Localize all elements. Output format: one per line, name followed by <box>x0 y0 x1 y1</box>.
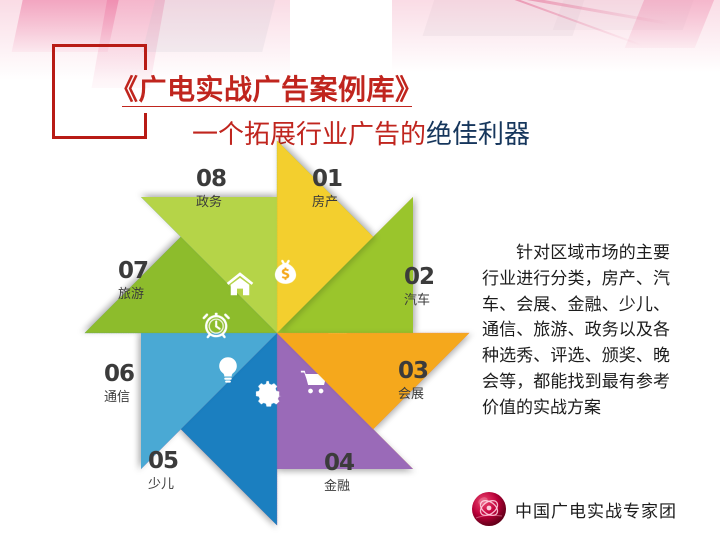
pinwheel-callout-02[interactable]: 02汽车 <box>404 266 434 308</box>
callout-label: 少儿 <box>148 476 178 492</box>
subtitle-part-red: 一个拓展行业广告的 <box>192 120 426 149</box>
callout-number: 03 <box>398 360 428 383</box>
callout-label: 会展 <box>398 386 428 402</box>
title-divider <box>122 106 412 107</box>
callout-label: 金融 <box>324 478 354 494</box>
subtitle-part-blue: 绝佳利器 <box>426 120 530 149</box>
callout-number: 04 <box>324 452 354 475</box>
callout-number: 05 <box>148 450 178 473</box>
pinwheel-callout-03[interactable]: 03会展 <box>398 360 428 402</box>
callout-number: 02 <box>404 266 434 289</box>
callout-number: 01 <box>312 168 342 191</box>
bg-ray-10 <box>501 0 643 46</box>
body-paragraph: 针对区域市场的主要行业进行分类，房产、汽车、会展、金融、少儿、通信、旅游、政务以… <box>482 240 670 421</box>
callout-number: 07 <box>118 260 148 283</box>
footer-logo: 中国广电实战专家团 <box>472 492 677 526</box>
bg-slab-c <box>553 0 698 30</box>
money-bag-icon <box>270 257 300 287</box>
pinwheel-callout-04[interactable]: 04金融 <box>324 452 354 494</box>
slide-canvas: 《广电实战广告案例库》 一个拓展行业广告的绝佳利器 01房产02汽车03会展04… <box>0 0 720 540</box>
bg-slab-a <box>142 0 277 52</box>
bg-wash-right <box>392 0 720 100</box>
callout-label: 汽车 <box>404 292 434 308</box>
callout-number: 08 <box>196 168 226 191</box>
bg-band-c <box>625 0 718 48</box>
bg-ray-9 <box>501 0 669 25</box>
callout-number: 06 <box>104 363 134 386</box>
brand-name: 中国广电实战专家团 <box>515 497 677 522</box>
callout-label: 房产 <box>312 194 342 210</box>
pinwheel-callout-07[interactable]: 07旅游 <box>118 260 148 302</box>
bg-slab-b <box>423 0 588 36</box>
page-title: 《广电实战广告案例库》 <box>110 68 424 108</box>
page-subtitle: 一个拓展行业广告的绝佳利器 <box>192 114 530 151</box>
callout-label: 旅游 <box>118 286 148 302</box>
pinwheel-callout-08[interactable]: 08政务 <box>196 168 226 210</box>
callout-label: 通信 <box>104 389 134 405</box>
brand-sphere-icon <box>472 492 506 526</box>
pinwheel-callout-05[interactable]: 05少儿 <box>148 450 178 492</box>
pinwheel-callout-06[interactable]: 06通信 <box>104 363 134 405</box>
pinwheel-callout-01[interactable]: 01房产 <box>312 168 342 210</box>
callout-label: 政务 <box>196 194 226 210</box>
